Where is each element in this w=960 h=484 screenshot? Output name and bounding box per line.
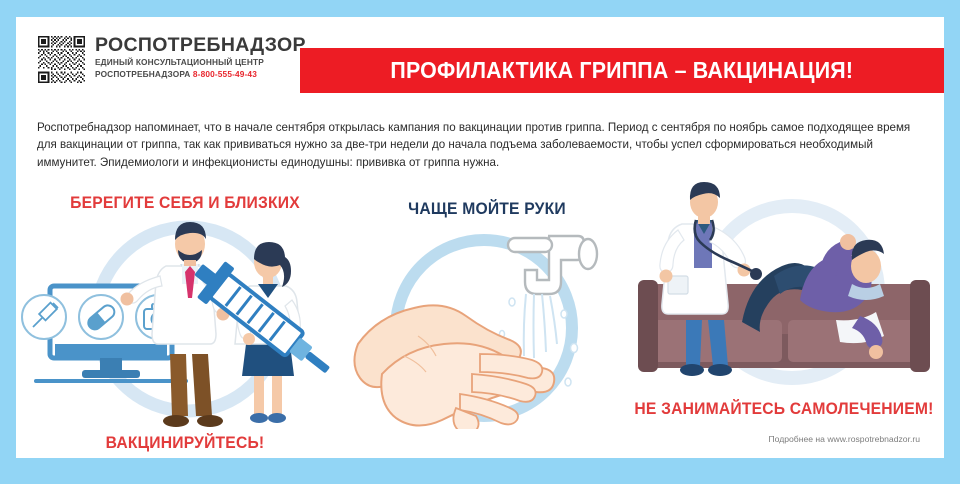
hotline-phone: 8-800-555-49-43 [193, 69, 257, 79]
banner-title: ПРОФИЛАКТИКА ГРИППА – ВАКЦИНАЦИЯ! [391, 57, 854, 84]
brand-name: РОСПОТРЕБНАДЗОР [95, 34, 306, 56]
panel-no-self-medication: НЕ ЗАНИМАЙТЕСЬ САМОЛЕЧЕНИЕМ! [624, 172, 944, 458]
water-stream [524, 294, 557, 358]
panels-row: БЕРЕГИТЕ СЕБЯ И БЛИЗКИХ [16, 172, 944, 458]
brand-subtitle-line1: ЕДИНЫЙ КОНСУЛЬТАЦИОННЫЙ ЦЕНТР [95, 57, 306, 68]
doctors-with-syringe-illustration [20, 214, 350, 429]
brand-block: РОСПОТРЕБНАДЗОР ЕДИНЫЙ КОНСУЛЬТАЦИОННЫЙ … [38, 34, 306, 83]
brand-subtitle-org: РОСПОТРЕБНАДЗОРА [95, 69, 190, 79]
monitor-icon-pill [79, 295, 123, 339]
handwashing-under-faucet-illustration [352, 224, 622, 429]
panel-vaccination: БЕРЕГИТЕ СЕБЯ И БЛИЗКИХ [20, 172, 350, 458]
panel-right-caption: НЕ ЗАНИМАЙТЕСЬ САМОЛЕЧЕНИЕМ! [632, 400, 936, 419]
panel-middle-title: ЧАЩЕ МОЙТЕ РУКИ [359, 200, 616, 219]
monitor-icon-syringe [22, 295, 66, 339]
poster-frame: РОСПОТРЕБНАДЗОР ЕДИНЫЙ КОНСУЛЬТАЦИОННЫЙ … [0, 0, 960, 484]
panel-left-caption: ВАКЦИНИРУЙТЕСЬ! [28, 434, 342, 453]
intro-paragraph: Роспотребнадзор напоминает, что в начале… [37, 119, 931, 172]
brand-subtitle-line2: РОСПОТРЕБНАДЗОРА 8-800-555-49-43 [95, 69, 306, 80]
brand-text: РОСПОТРЕБНАДЗОР ЕДИНЫЙ КОНСУЛЬТАЦИОННЫЙ … [95, 34, 306, 79]
poster-card: РОСПОТРЕБНАДЗОР ЕДИНЫЙ КОНСУЛЬТАЦИОННЫЙ … [16, 17, 944, 458]
panel-handwashing: ЧАЩЕ МОЙТЕ РУКИ [352, 172, 622, 458]
poster-header: РОСПОТРЕБНАДЗОР ЕДИНЫЙ КОНСУЛЬТАЦИОННЫЙ … [16, 17, 944, 97]
qr-code-icon [38, 36, 85, 83]
panel-left-title: БЕРЕГИТЕ СЕБЯ И БЛИЗКИХ [28, 194, 342, 213]
doctor-examining-patient-on-couch-illustration [624, 180, 944, 390]
footer-note: Подробнее на www.rospotrebnadzor.ru [768, 434, 920, 444]
faucet-graphic [508, 236, 597, 294]
red-banner: ПРОФИЛАКТИКА ГРИППА – ВАКЦИНАЦИЯ! [300, 48, 944, 93]
